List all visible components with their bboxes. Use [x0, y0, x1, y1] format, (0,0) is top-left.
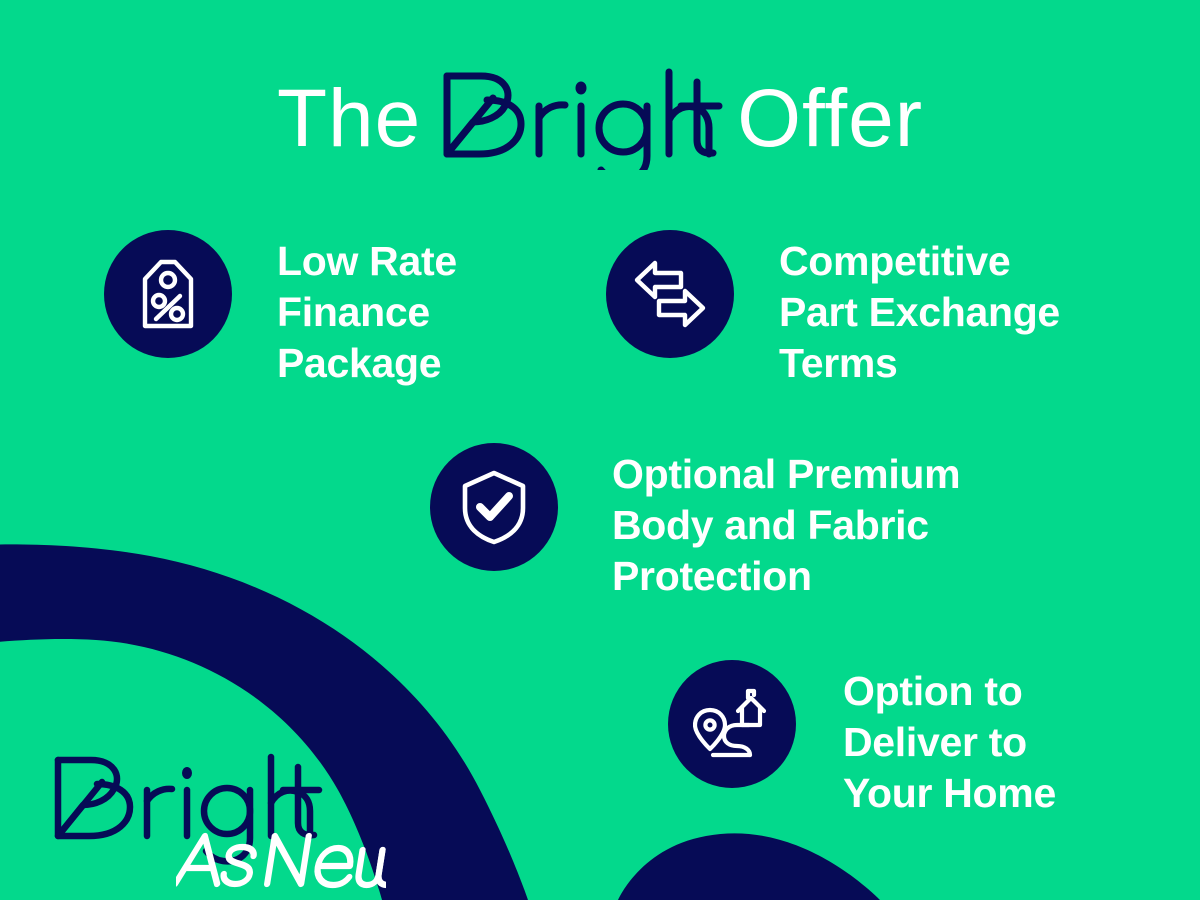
headline-suffix: Offer [737, 78, 923, 160]
brand-logo-bright-as-new [48, 748, 368, 893]
shield-check-icon [460, 469, 528, 545]
feature-low-rate-finance: Low Rate Finance Package [104, 230, 457, 389]
feature-label: Competitive Part Exchange Terms [779, 230, 1060, 389]
headline-prefix: The [277, 78, 421, 160]
feature-home-delivery: Option to Deliver to Your Home [668, 660, 1056, 819]
feature-line: Package [277, 338, 457, 389]
delivery-route-home-icon [693, 687, 771, 761]
feature-line: Terms [779, 338, 1060, 389]
feature-icon-circle [606, 230, 734, 358]
feature-body-fabric-protection: Optional Premium Body and Fabric Protect… [430, 443, 960, 602]
feature-icon-circle [668, 660, 796, 788]
feature-icon-circle [430, 443, 558, 571]
promo-poster: The [0, 0, 1200, 900]
bright-wordmark-title [435, 62, 723, 175]
feature-line: Competitive [779, 236, 1060, 287]
feature-icon-circle [104, 230, 232, 358]
asnew-wordmark-logo [176, 828, 386, 892]
feature-line: Finance [277, 287, 457, 338]
feature-label: Low Rate Finance Package [277, 230, 457, 389]
feature-label: Option to Deliver to Your Home [843, 660, 1056, 819]
feature-line: Deliver to [843, 717, 1056, 768]
feature-label: Optional Premium Body and Fabric Protect… [612, 443, 960, 602]
feature-line: Low Rate [277, 236, 457, 287]
feature-part-exchange: Competitive Part Exchange Terms [606, 230, 1060, 389]
feature-line: Optional Premium [612, 449, 960, 500]
feature-line: Protection [612, 551, 960, 602]
price-tag-percent-icon [135, 257, 201, 331]
exchange-arrows-icon [633, 258, 707, 330]
feature-line: Your Home [843, 768, 1056, 819]
navy-corner-arc [618, 833, 880, 900]
feature-line: Part Exchange [779, 287, 1060, 338]
feature-line: Body and Fabric [612, 500, 960, 551]
feature-line: Option to [843, 666, 1056, 717]
page-title: The [0, 62, 1200, 175]
